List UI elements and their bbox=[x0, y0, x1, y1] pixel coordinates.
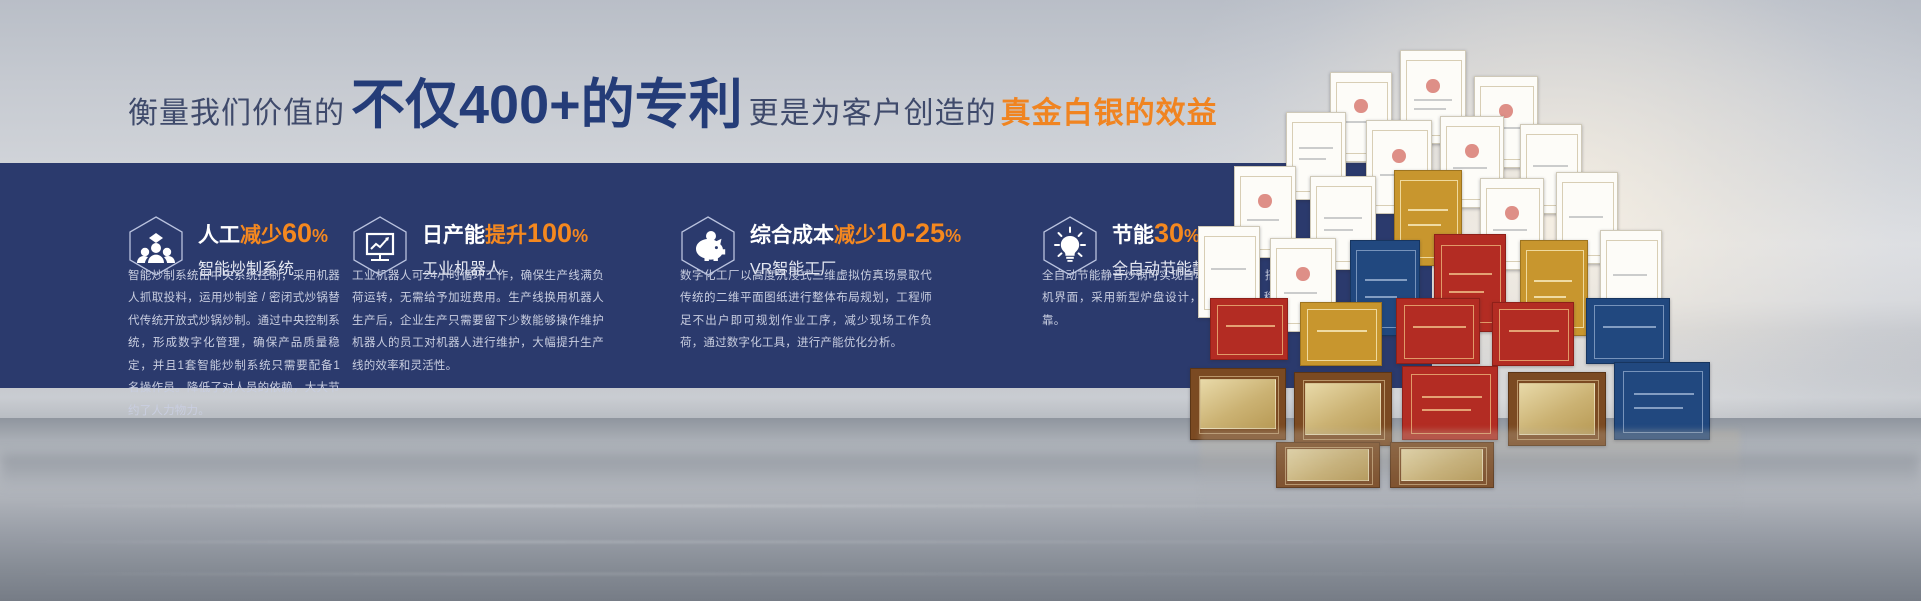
feature-description: 工业机器人可24小时循环工作，确保生产线满负荷运转，无需给予加班费用。生产线换用… bbox=[352, 265, 604, 377]
feature-card-capacity[interactable]: 日产能提升100% 工业机器人 工业机器人可24小时循环工作，确保生产线满负荷运… bbox=[330, 163, 660, 388]
headline-emphasis: 不仅400+的专利 bbox=[351, 78, 743, 132]
headline: 衡量我们价值的 不仅400+的专利 更是为客户创造的 真金白银的效益 bbox=[128, 78, 1218, 138]
feature-title: 节能30% bbox=[1112, 224, 1200, 247]
headline-middle: 更是为客户创造的 bbox=[749, 88, 997, 132]
water-ripple bbox=[0, 573, 1921, 575]
headline-accent: 真金白银的效益 bbox=[1001, 88, 1218, 132]
lightbulb-icon bbox=[1042, 215, 1098, 277]
award-plaque bbox=[1492, 302, 1574, 366]
award-plaque bbox=[1614, 362, 1710, 440]
water-ripple bbox=[0, 541, 1921, 543]
certificate-wall bbox=[1190, 50, 1750, 490]
headline-lead: 衡量我们价值的 bbox=[128, 88, 345, 132]
award-plaque bbox=[1210, 298, 1288, 360]
feature-title: 综合成本减少10-25% bbox=[750, 224, 961, 247]
award-plaque bbox=[1300, 302, 1382, 366]
chart-board-icon bbox=[352, 215, 408, 277]
feature-card-labor[interactable]: 人工减少60% 智能炒制系统 智能炒制系统由中央系统控制，采用机器人抓取投料，运… bbox=[0, 163, 330, 388]
piggy-bank-icon bbox=[680, 215, 736, 277]
award-plaque bbox=[1402, 366, 1498, 440]
award-plaque bbox=[1586, 298, 1670, 364]
award-plaque bbox=[1396, 298, 1480, 364]
feature-title: 日产能提升100% bbox=[422, 224, 588, 247]
feature-card-cost[interactable]: 综合成本减少10-25% VR智能工厂 数字化工厂以高度沉浸式三维虚拟仿真场景取… bbox=[660, 163, 1020, 388]
feature-description: 数字化工厂以高度沉浸式三维虚拟仿真场景取代传统的二维平面图纸进行整体布局规划，工… bbox=[680, 265, 932, 355]
feature-title: 人工减少60% bbox=[198, 224, 328, 247]
certificate-wall-reflection bbox=[1200, 430, 1740, 520]
feature-card-header: 人工减少60% 智能炒制系统 bbox=[128, 163, 312, 241]
feature-card-header: 综合成本减少10-25% VR智能工厂 bbox=[680, 163, 1002, 241]
feature-card-header: 日产能提升100% 工业机器人 bbox=[352, 163, 642, 241]
feature-description: 智能炒制系统由中央系统控制，采用机器人抓取投料，运用炒制釜 / 密闭式炒锅替代传… bbox=[128, 265, 340, 422]
people-group-icon bbox=[128, 215, 184, 277]
hero-banner: 衡量我们价值的 不仅400+的专利 更是为客户创造的 真金白银的效益 bbox=[0, 0, 1921, 601]
